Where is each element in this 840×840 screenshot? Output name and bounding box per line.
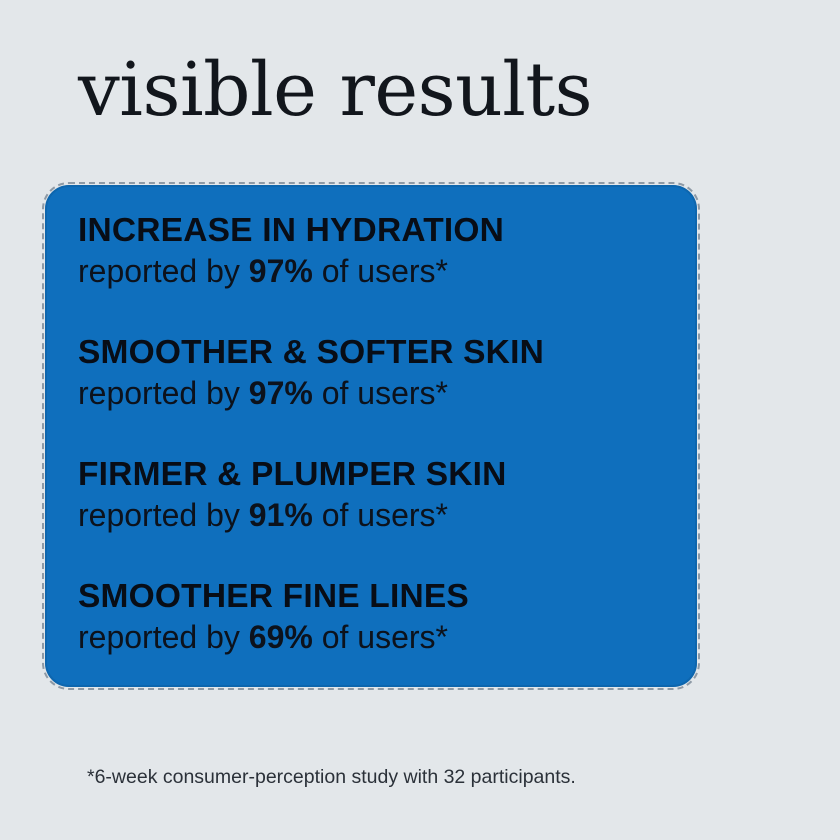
claim-heading: FIRMER & PLUMPER SKIN [78, 454, 677, 496]
claim-subline-prefix: reported by [78, 375, 249, 411]
claim-subline-suffix: of users* [313, 497, 448, 533]
claim-subline: reported by 97% of users* [78, 251, 677, 291]
page-title: visible results [78, 47, 592, 133]
claim-subline-prefix: reported by [78, 253, 249, 289]
results-infographic: visible results INCREASE IN HYDRATION re… [0, 0, 840, 840]
claim-subline-prefix: reported by [78, 619, 249, 655]
claim-subline-suffix: of users* [313, 375, 448, 411]
results-card: INCREASE IN HYDRATION reported by 97% of… [45, 185, 697, 687]
claim-item: SMOOTHER FINE LINES reported by 69% of u… [78, 576, 677, 657]
claim-heading: SMOOTHER & SOFTER SKIN [78, 332, 677, 374]
claim-subline-prefix: reported by [78, 497, 249, 533]
claim-item: FIRMER & PLUMPER SKIN reported by 91% of… [78, 454, 677, 535]
claim-item: INCREASE IN HYDRATION reported by 97% of… [78, 210, 677, 291]
claim-heading: SMOOTHER FINE LINES [78, 576, 677, 618]
study-footnote: *6-week consumer-perception study with 3… [87, 764, 576, 790]
claim-subline: reported by 69% of users* [78, 617, 677, 657]
claim-subline-suffix: of users* [313, 253, 448, 289]
claim-subline-suffix: of users* [313, 619, 448, 655]
claim-heading: INCREASE IN HYDRATION [78, 210, 677, 252]
claim-percent-value: 97% [249, 375, 313, 411]
claim-subline: reported by 97% of users* [78, 373, 677, 413]
claim-subline: reported by 91% of users* [78, 495, 677, 535]
claim-percent-value: 91% [249, 497, 313, 533]
claim-percent-value: 97% [249, 253, 313, 289]
claim-percent-value: 69% [249, 619, 313, 655]
claim-item: SMOOTHER & SOFTER SKIN reported by 97% o… [78, 332, 677, 413]
claims-list: INCREASE IN HYDRATION reported by 97% of… [78, 210, 677, 657]
